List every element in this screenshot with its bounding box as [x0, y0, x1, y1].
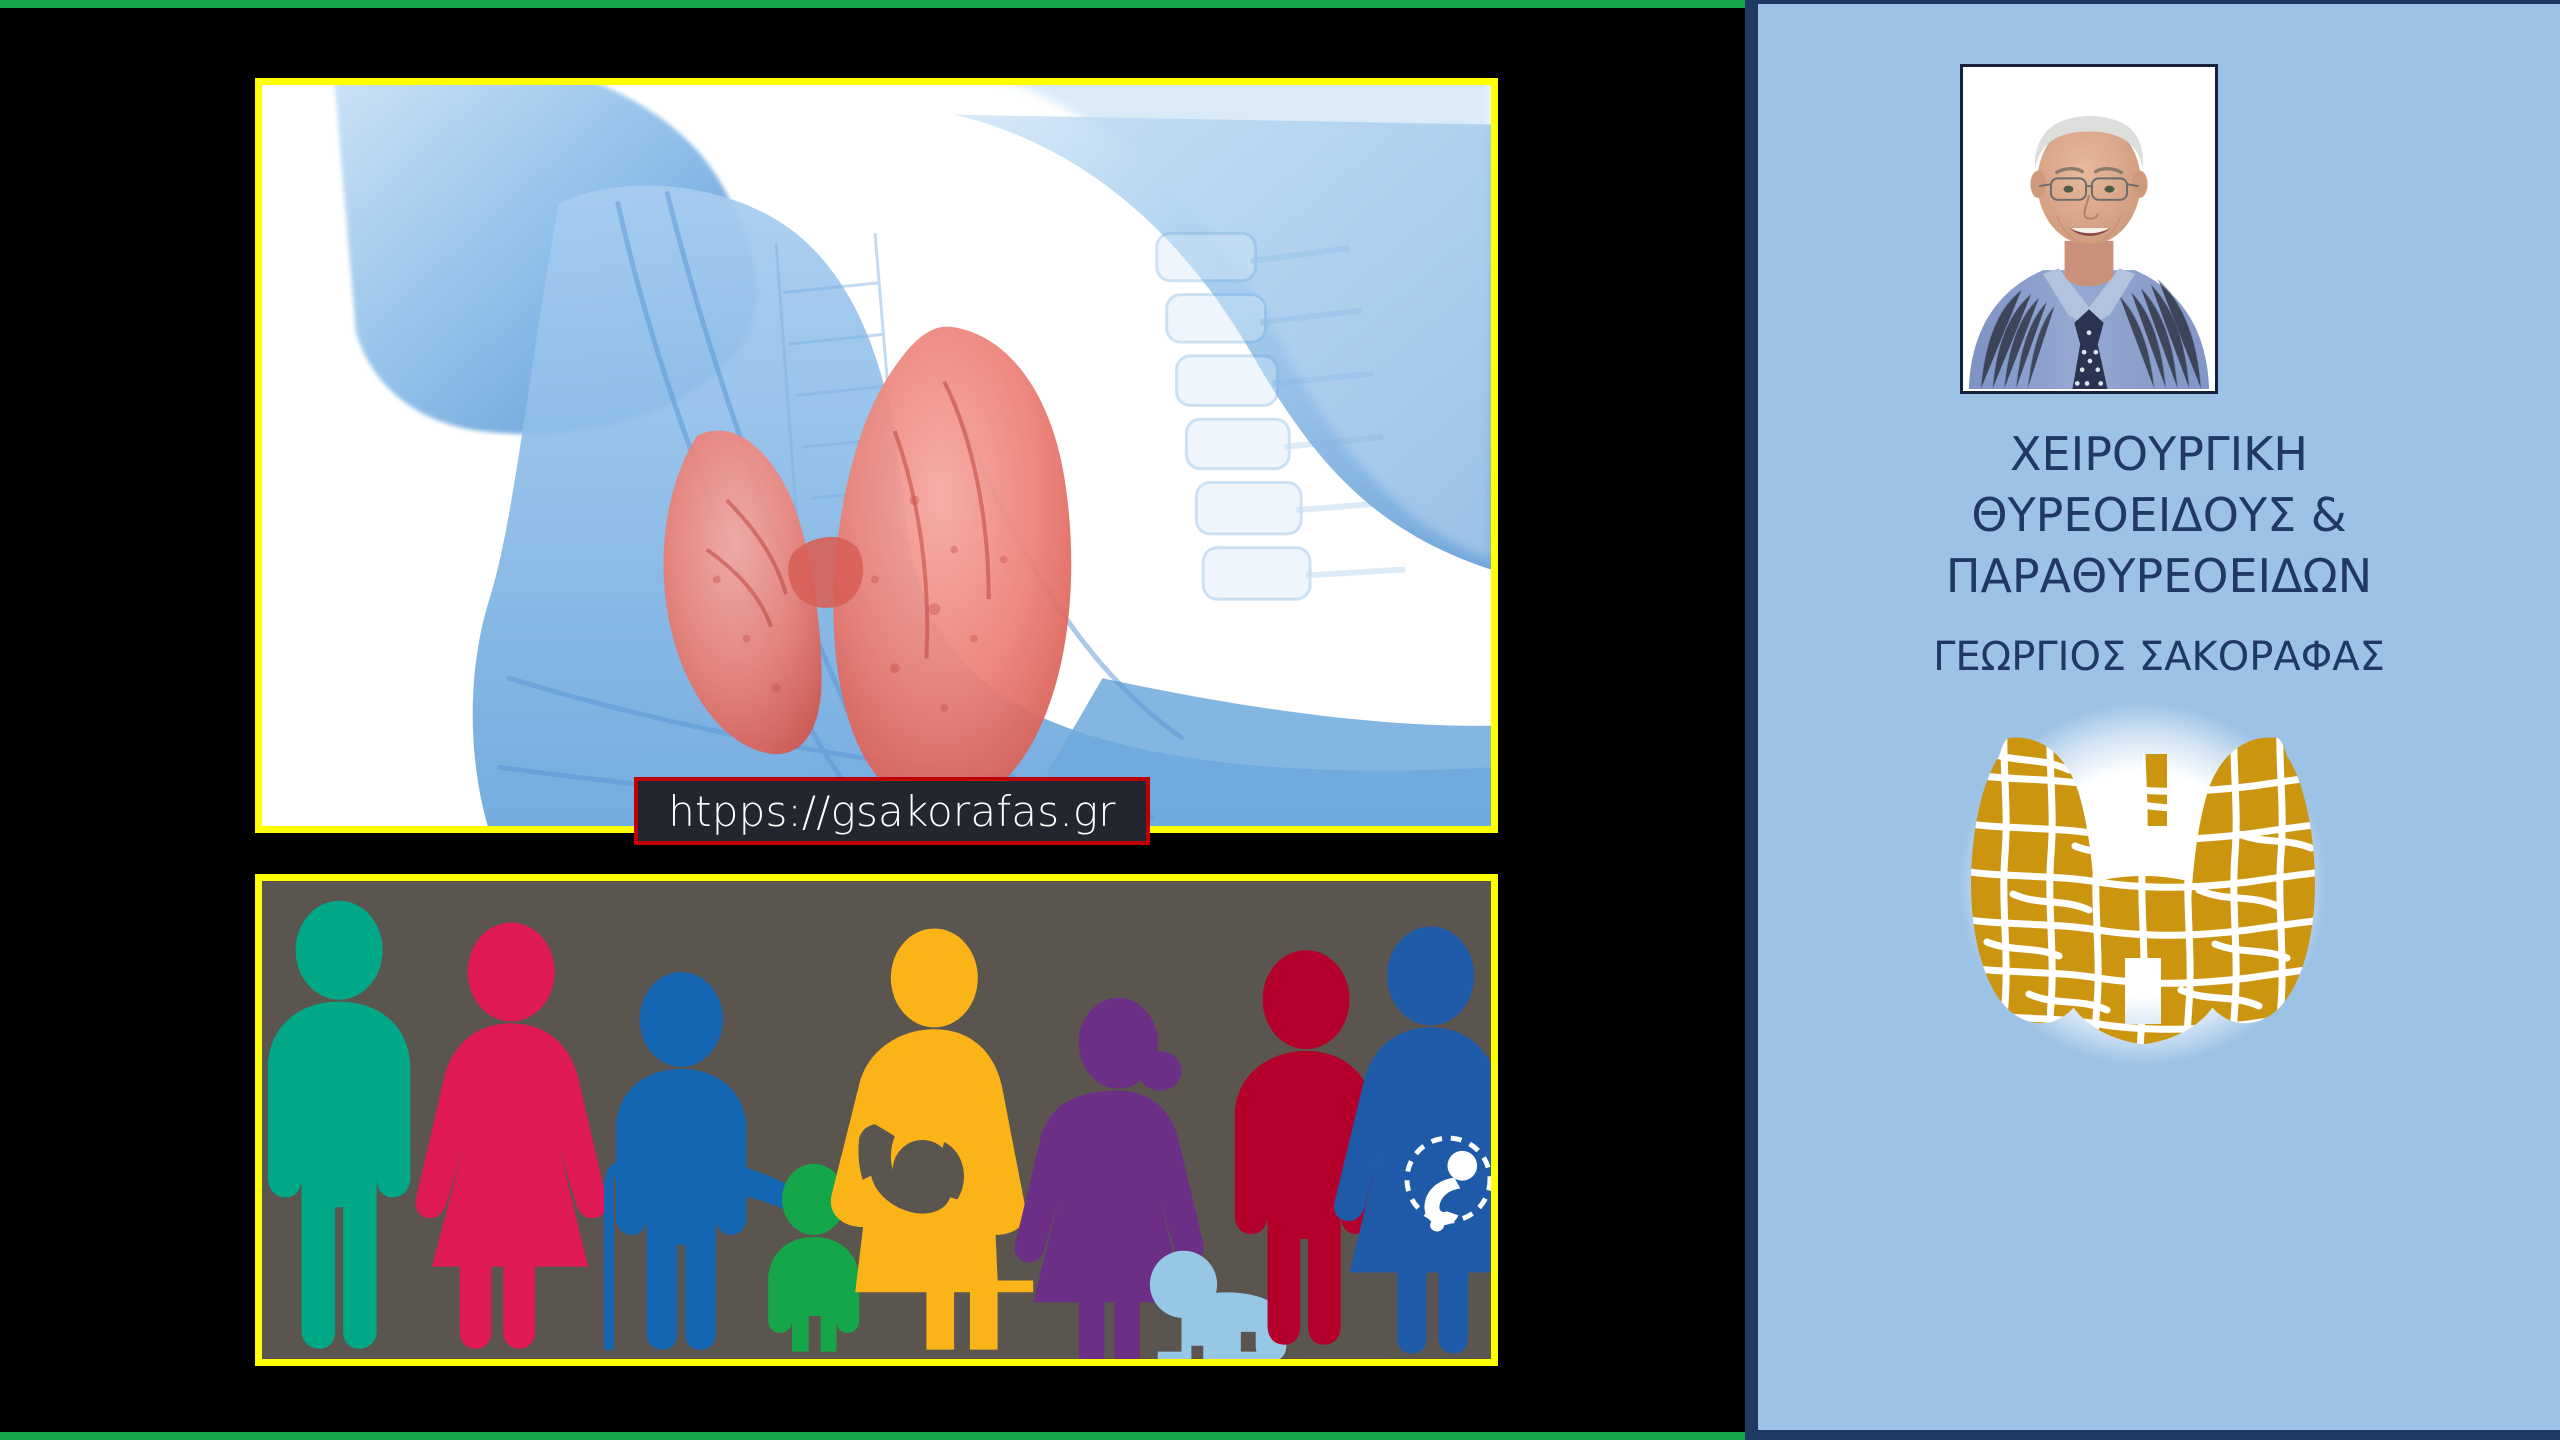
title-line-2: ΘΥΡΕΟΕΙΔΟΥΣ &	[1778, 485, 2540, 546]
right-info-panel: ΧΕΙΡΟΥΡΓΙΚΗ ΘΥΡΕΟΕΙΔΟΥΣ & ΠΑΡΑΘΥΡΕΟΕΙΔΩΝ…	[1745, 0, 2560, 1440]
speaker-portrait-frame	[1960, 64, 2218, 394]
presentation-slide: htpps://gsakorafas.gr	[0, 0, 2560, 1440]
thyroid-anatomy-illustration	[262, 85, 1491, 831]
watermark-url-text: htpps://gsakorafas.gr	[668, 787, 1116, 836]
speaker-name: ΓΕΩΡΓΙΟΣ ΣΑΚΟΡΑΦΑΣ	[1778, 634, 2540, 680]
title-line-1: ΧΕΙΡΟΥΡΓΙΚΗ	[1778, 424, 2540, 485]
thyroid-gland-logo-illustration	[1943, 694, 2343, 1079]
presentation-title: ΧΕΙΡΟΥΡΓΙΚΗ ΘΥΡΕΟΕΙΔΟΥΣ & ΠΑΡΑΘΥΡΕΟΕΙΔΩΝ	[1778, 424, 2540, 608]
thyroid-anatomy-image	[255, 78, 1498, 833]
url-watermark-badge: htpps://gsakorafas.gr	[634, 777, 1150, 845]
population-pictogram-illustration	[262, 881, 1491, 1366]
left-content-panel: htpps://gsakorafas.gr	[0, 0, 1745, 1440]
speaker-portrait-photo	[1963, 67, 2215, 389]
thyroid-gland-logo	[1943, 694, 2343, 1079]
title-line-3: ΠΑΡΑΘΥΡΕΟΕΙΔΩΝ	[1778, 546, 2540, 607]
population-pictogram-image	[255, 874, 1498, 1366]
